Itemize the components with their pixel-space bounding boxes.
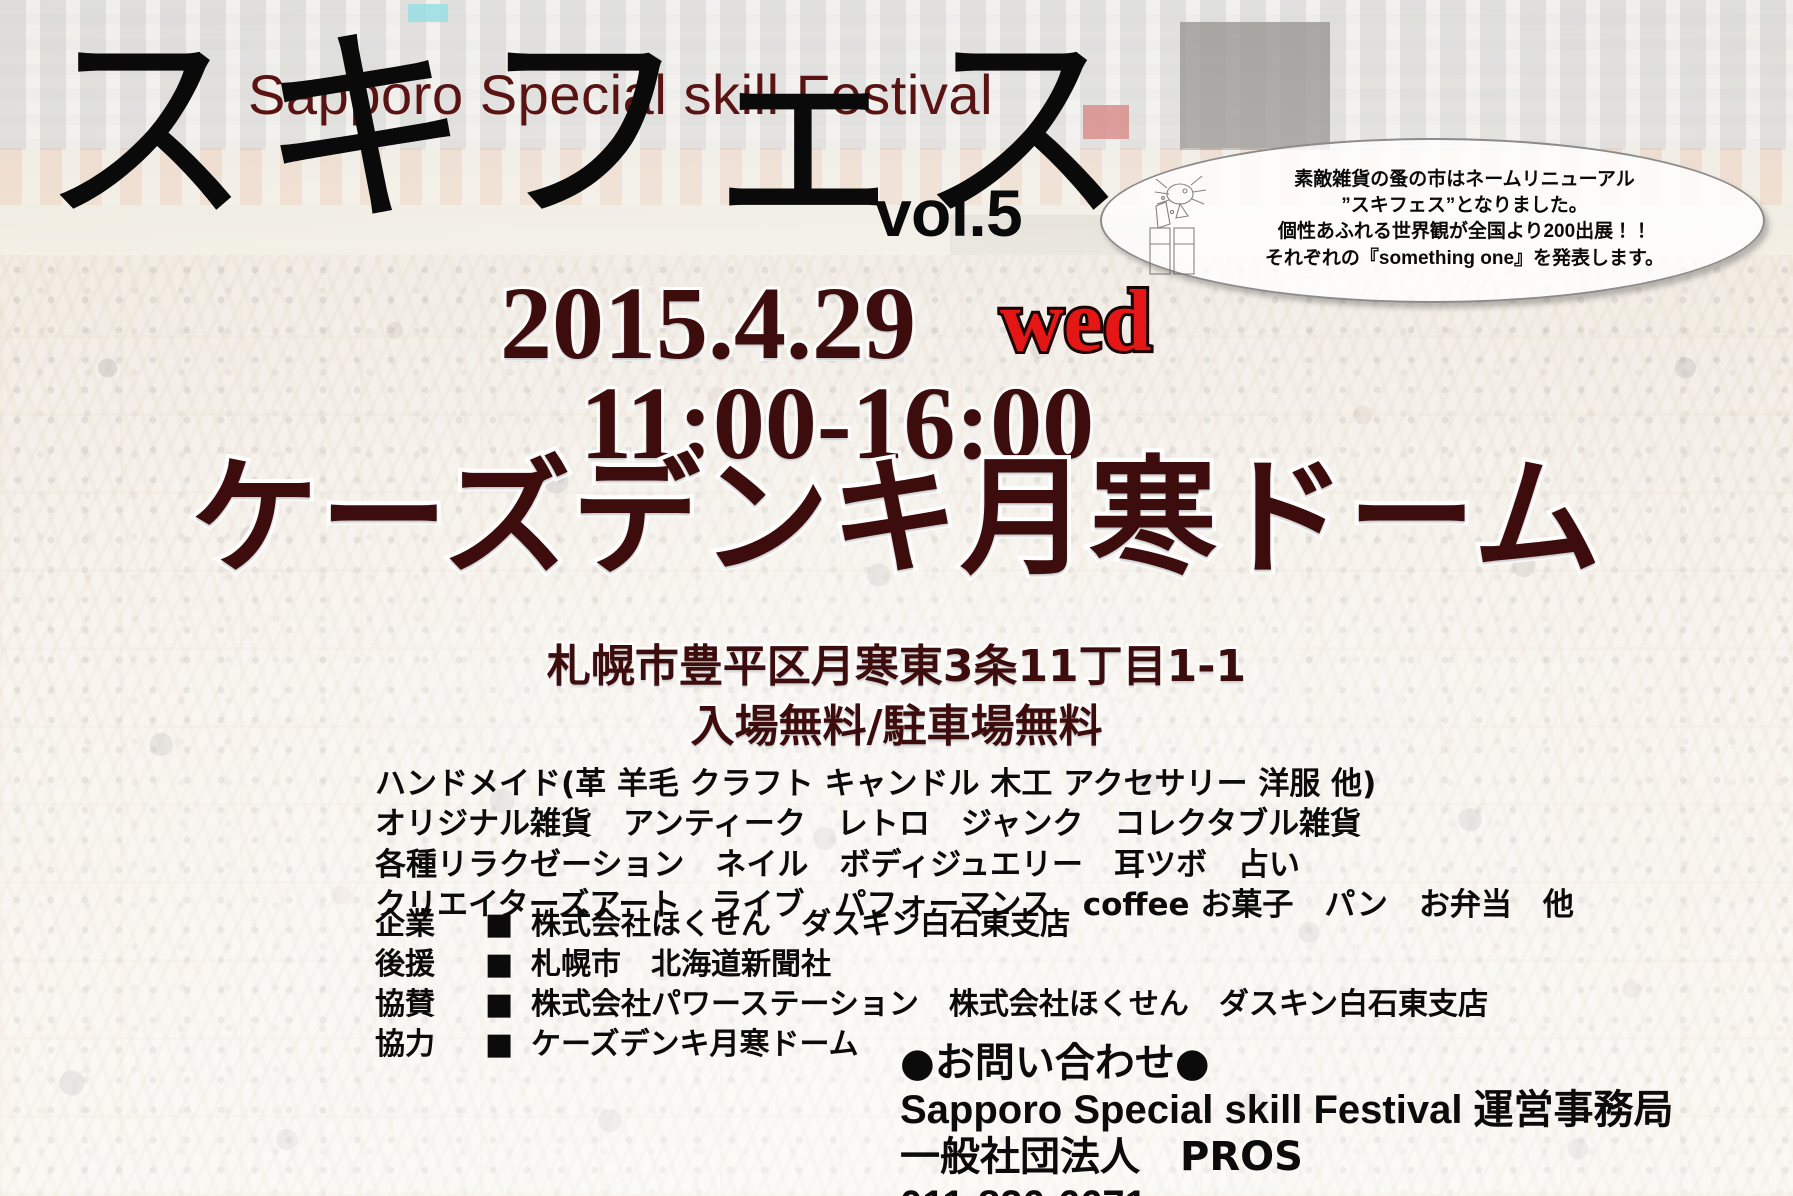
sponsor-row: 協賛 ■ 株式会社パワーステーション 株式会社ほくせん ダスキン白石東支店 bbox=[375, 985, 1488, 1025]
sponsor-row: 後援 ■ 札幌市 北海道新聞社 bbox=[375, 945, 1488, 985]
event-date: 2015.4.29 bbox=[500, 272, 916, 376]
category-line-relaxation: 各種リラクゼーション ネイル ボディジュエリー 耳ツボ 占い bbox=[375, 845, 1574, 885]
contact-block: ●お問い合わせ● Sapporo Special skill Festival … bbox=[900, 1040, 1674, 1196]
contact-organization-en: Sapporo Special skill Festival 運営事務局 bbox=[900, 1087, 1674, 1134]
event-poster: Sapporo Special skill Festival スキフェス vol… bbox=[0, 0, 1793, 1196]
sponsor-value: ケーズデンキ月寒ドーム bbox=[531, 1025, 859, 1065]
admission-notice: 入場無料/駐車場無料 bbox=[0, 705, 1793, 749]
announcement-line-1: 素敵雑貨の蚤の市はネームリニューアル bbox=[1188, 167, 1741, 193]
square-bullet-icon: ■ bbox=[485, 945, 531, 985]
category-line-handmade: ハンドメイド(革 羊毛 クラフト キャンドル 木工 アクセサリー 洋服 他) bbox=[375, 764, 1574, 804]
square-bullet-icon: ■ bbox=[485, 905, 531, 945]
volume-label: vol.5 bbox=[875, 175, 1022, 251]
announcement-line-2: ”スキフェス”となりました。 bbox=[1188, 193, 1741, 219]
sponsor-value: 株式会社ほくせん ダスキン白石東支店 bbox=[531, 905, 1070, 945]
announcement-line-3: 個性あふれる世界観が全国より200出展！！ bbox=[1188, 219, 1741, 245]
announcement-text: 素敵雑貨の蚤の市はネームリニューアル ”スキフェス”となりました。 個性あふれる… bbox=[1188, 167, 1741, 272]
event-address: 札幌市豊平区月寒東3条11丁目1-1 bbox=[0, 645, 1793, 689]
announcement-line-4: それぞれの『something one』を発表します。 bbox=[1188, 246, 1741, 272]
event-venue: ケーズデンキ月寒ドーム bbox=[0, 455, 1793, 583]
sponsor-label: 後援 bbox=[375, 945, 485, 985]
category-list: ハンドメイド(革 羊毛 クラフト キャンドル 木工 アクセサリー 洋服 他) オ… bbox=[375, 764, 1574, 925]
contact-organization-jp: 一般社団法人 PROS bbox=[900, 1134, 1674, 1181]
sponsor-value: 株式会社パワーステーション 株式会社ほくせん ダスキン白石東支店 bbox=[531, 985, 1488, 1025]
sponsor-label: 企業 bbox=[375, 905, 485, 945]
square-bullet-icon: ■ bbox=[485, 985, 531, 1025]
contact-phone: 011-826-6671 bbox=[900, 1182, 1674, 1196]
announcement-bubble: 素敵雑貨の蚤の市はネームリニューアル ”スキフェス”となりました。 個性あふれる… bbox=[1100, 138, 1765, 303]
sponsor-label: 協力 bbox=[375, 1025, 485, 1065]
sponsor-label: 協賛 bbox=[375, 985, 485, 1025]
square-bullet-icon: ■ bbox=[485, 1025, 531, 1065]
sponsor-row: 企業 ■ 株式会社ほくせん ダスキン白石東支店 bbox=[375, 905, 1488, 945]
category-line-goods: オリジナル雑貨 アンティーク レトロ ジャンク コレクタブル雑貨 bbox=[375, 804, 1574, 844]
contact-heading: ●お問い合わせ● bbox=[900, 1040, 1674, 1087]
sponsor-value: 札幌市 北海道新聞社 bbox=[531, 945, 831, 985]
event-weekday: wed bbox=[1000, 278, 1152, 366]
